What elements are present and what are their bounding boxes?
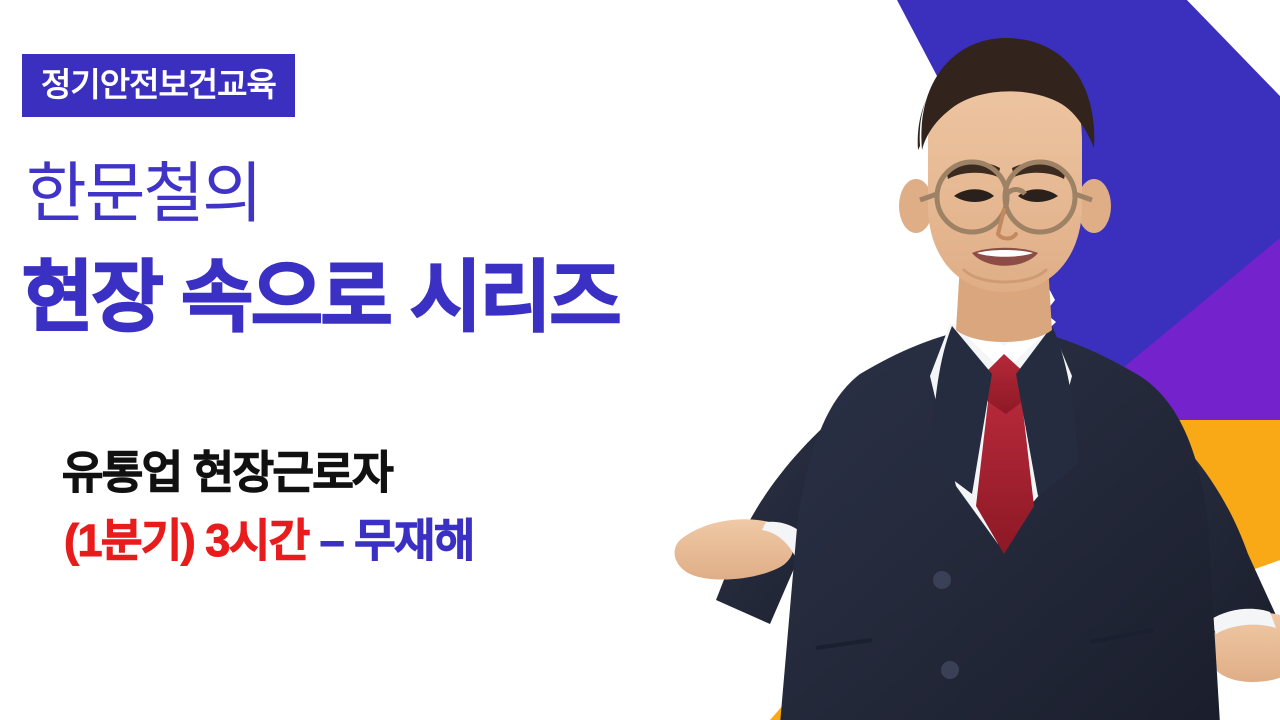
title-line-1: 한문철의 <box>26 160 261 226</box>
subtitle-keyword: 무재해 <box>354 515 474 566</box>
title-line-2: 현장 속으로 시리즈 <box>22 258 619 336</box>
subtitle-audience: 유통업 현장근로자 <box>62 450 392 495</box>
subtitle-quarter-hours: (1분기) 3시간 <box>64 515 309 566</box>
subtitle-dash: – <box>320 515 344 566</box>
text-content: 정기안전보건교육 한문철의 현장 속으로 시리즈 유통업 현장근로자 (1분기)… <box>0 0 720 720</box>
thumbnail-canvas: 정기안전보건교육 한문철의 현장 속으로 시리즈 유통업 현장근로자 (1분기)… <box>0 0 1280 720</box>
course-category-badge: 정기안전보건교육 <box>22 54 295 117</box>
subtitle-details: (1분기) 3시간 – 무재해 <box>64 518 474 563</box>
